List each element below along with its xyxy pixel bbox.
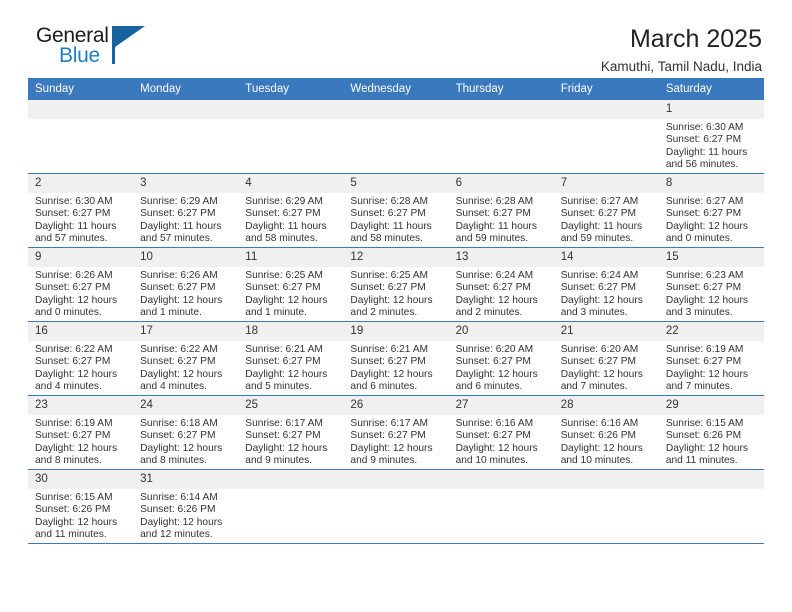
daylight-duration-line2: and 1 minute. <box>245 307 337 319</box>
day-number: 28 <box>554 396 659 415</box>
sunrise-time: Sunrise: 6:26 AM <box>140 270 232 282</box>
day-number: 11 <box>238 248 343 267</box>
sunset-time: Sunset: 6:27 PM <box>561 208 653 220</box>
day-number <box>554 470 659 489</box>
daylight-duration-line1: Daylight: 12 hours <box>666 221 758 233</box>
sunset-time: Sunset: 6:27 PM <box>140 430 232 442</box>
day-number: 9 <box>28 248 133 267</box>
calendar-day-cell[interactable]: 18Sunrise: 6:21 AMSunset: 6:27 PMDayligh… <box>238 322 343 396</box>
day-sun-info: Sunrise: 6:16 AMSunset: 6:26 PMDaylight:… <box>554 415 659 468</box>
daylight-duration-line1: Daylight: 12 hours <box>666 295 758 307</box>
sunrise-time: Sunrise: 6:24 AM <box>561 270 653 282</box>
sunrise-time: Sunrise: 6:27 AM <box>561 196 653 208</box>
weekday-header-sunday: Sunday <box>28 78 133 100</box>
page-header: General Blue March 2025 Kamuthi, Tamil N… <box>28 0 764 72</box>
daylight-duration-line1: Daylight: 12 hours <box>456 369 548 381</box>
day-number: 7 <box>554 174 659 193</box>
sunset-time: Sunset: 6:26 PM <box>35 504 127 516</box>
daylight-duration-line1: Daylight: 12 hours <box>350 369 442 381</box>
daylight-duration-line1: Daylight: 12 hours <box>140 369 232 381</box>
calendar-day-cell-empty <box>133 100 238 174</box>
calendar-day-cell-empty <box>449 470 554 544</box>
calendar-day-cell[interactable]: 26Sunrise: 6:17 AMSunset: 6:27 PMDayligh… <box>343 396 448 470</box>
daylight-duration-line2: and 4 minutes. <box>140 381 232 393</box>
calendar-day-cell-empty <box>238 470 343 544</box>
calendar-day-cell[interactable]: 15Sunrise: 6:23 AMSunset: 6:27 PMDayligh… <box>659 248 764 322</box>
day-number: 26 <box>343 396 448 415</box>
day-sun-info: Sunrise: 6:27 AMSunset: 6:27 PMDaylight:… <box>554 193 659 246</box>
calendar-day-cell[interactable]: 30Sunrise: 6:15 AMSunset: 6:26 PMDayligh… <box>28 470 133 544</box>
day-number <box>238 470 343 489</box>
day-number: 15 <box>659 248 764 267</box>
sunrise-time: Sunrise: 6:22 AM <box>35 344 127 356</box>
sunset-time: Sunset: 6:27 PM <box>245 282 337 294</box>
daylight-duration-line1: Daylight: 12 hours <box>140 443 232 455</box>
day-number: 21 <box>554 322 659 341</box>
daylight-duration-line2: and 5 minutes. <box>245 381 337 393</box>
page-title: March 2025 <box>601 24 762 54</box>
calendar-week-row: 16Sunrise: 6:22 AMSunset: 6:27 PMDayligh… <box>28 322 764 396</box>
sunrise-time: Sunrise: 6:15 AM <box>666 418 758 430</box>
logo-word-blue: Blue <box>59 44 100 68</box>
daylight-duration-line1: Daylight: 11 hours <box>350 221 442 233</box>
day-number: 10 <box>133 248 238 267</box>
daylight-duration-line2: and 0 minutes. <box>666 233 758 245</box>
calendar-body: 1Sunrise: 6:30 AMSunset: 6:27 PMDaylight… <box>28 100 764 544</box>
sunset-time: Sunset: 6:27 PM <box>35 430 127 442</box>
calendar-day-cell[interactable]: 29Sunrise: 6:15 AMSunset: 6:26 PMDayligh… <box>659 396 764 470</box>
calendar-day-cell[interactable]: 8Sunrise: 6:27 AMSunset: 6:27 PMDaylight… <box>659 174 764 248</box>
daylight-duration-line1: Daylight: 11 hours <box>35 221 127 233</box>
daylight-duration-line1: Daylight: 12 hours <box>245 295 337 307</box>
weekday-header-saturday: Saturday <box>659 78 764 100</box>
sunset-time: Sunset: 6:27 PM <box>456 356 548 368</box>
day-number: 19 <box>343 322 448 341</box>
day-number <box>449 470 554 489</box>
sunrise-time: Sunrise: 6:16 AM <box>561 418 653 430</box>
calendar-day-cell[interactable]: 12Sunrise: 6:25 AMSunset: 6:27 PMDayligh… <box>343 248 448 322</box>
day-number <box>238 100 343 119</box>
sunset-time: Sunset: 6:27 PM <box>245 430 337 442</box>
day-number: 14 <box>554 248 659 267</box>
sunrise-time: Sunrise: 6:21 AM <box>350 344 442 356</box>
sunset-time: Sunset: 6:27 PM <box>35 282 127 294</box>
day-sun-info: Sunrise: 6:15 AMSunset: 6:26 PMDaylight:… <box>28 489 133 542</box>
calendar-day-cell[interactable]: 27Sunrise: 6:16 AMSunset: 6:27 PMDayligh… <box>449 396 554 470</box>
sunrise-time: Sunrise: 6:22 AM <box>140 344 232 356</box>
weekday-header-wednesday: Wednesday <box>343 78 448 100</box>
general-blue-logo[interactable]: General Blue <box>28 24 178 72</box>
sunset-time: Sunset: 6:27 PM <box>666 282 758 294</box>
calendar-day-cell[interactable]: 17Sunrise: 6:22 AMSunset: 6:27 PMDayligh… <box>133 322 238 396</box>
calendar-day-cell[interactable]: 22Sunrise: 6:19 AMSunset: 6:27 PMDayligh… <box>659 322 764 396</box>
sunrise-time: Sunrise: 6:25 AM <box>350 270 442 282</box>
sunset-time: Sunset: 6:27 PM <box>350 356 442 368</box>
calendar-week-row: 2Sunrise: 6:30 AMSunset: 6:27 PMDaylight… <box>28 174 764 248</box>
day-sun-info: Sunrise: 6:27 AMSunset: 6:27 PMDaylight:… <box>659 193 764 246</box>
daylight-duration-line2: and 10 minutes. <box>561 455 653 467</box>
daylight-duration-line2: and 59 minutes. <box>561 233 653 245</box>
calendar-day-cell[interactable]: 5Sunrise: 6:28 AMSunset: 6:27 PMDaylight… <box>343 174 448 248</box>
sunset-time: Sunset: 6:27 PM <box>140 356 232 368</box>
day-sun-info: Sunrise: 6:23 AMSunset: 6:27 PMDaylight:… <box>659 267 764 320</box>
sunrise-time: Sunrise: 6:19 AM <box>666 344 758 356</box>
sunrise-time: Sunrise: 6:21 AM <box>245 344 337 356</box>
day-sun-info: Sunrise: 6:26 AMSunset: 6:27 PMDaylight:… <box>28 267 133 320</box>
sunset-time: Sunset: 6:26 PM <box>140 504 232 516</box>
logo-flag-icon <box>115 26 145 47</box>
sunset-time: Sunset: 6:27 PM <box>561 282 653 294</box>
calendar-page: General Blue March 2025 Kamuthi, Tamil N… <box>0 0 792 612</box>
calendar-day-cell[interactable]: 16Sunrise: 6:22 AMSunset: 6:27 PMDayligh… <box>28 322 133 396</box>
calendar-day-cell[interactable]: 3Sunrise: 6:29 AMSunset: 6:27 PMDaylight… <box>133 174 238 248</box>
day-number: 12 <box>343 248 448 267</box>
daylight-duration-line2: and 4 minutes. <box>35 381 127 393</box>
day-sun-info: Sunrise: 6:22 AMSunset: 6:27 PMDaylight:… <box>133 341 238 394</box>
sunset-time: Sunset: 6:27 PM <box>140 282 232 294</box>
page-subtitle: Kamuthi, Tamil Nadu, India <box>601 56 762 78</box>
weekday-header-row: Sunday Monday Tuesday Wednesday Thursday… <box>28 78 764 100</box>
daylight-duration-line2: and 2 minutes. <box>350 307 442 319</box>
day-sun-info: Sunrise: 6:15 AMSunset: 6:26 PMDaylight:… <box>659 415 764 468</box>
daylight-duration-line2: and 0 minutes. <box>35 307 127 319</box>
calendar-day-cell[interactable]: 11Sunrise: 6:25 AMSunset: 6:27 PMDayligh… <box>238 248 343 322</box>
daylight-duration-line1: Daylight: 12 hours <box>666 369 758 381</box>
day-number <box>554 100 659 119</box>
day-sun-info: Sunrise: 6:20 AMSunset: 6:27 PMDaylight:… <box>449 341 554 394</box>
daylight-duration-line2: and 1 minute. <box>140 307 232 319</box>
calendar-day-cell[interactable]: 6Sunrise: 6:28 AMSunset: 6:27 PMDaylight… <box>449 174 554 248</box>
day-sun-info: Sunrise: 6:18 AMSunset: 6:27 PMDaylight:… <box>133 415 238 468</box>
sunrise-time: Sunrise: 6:26 AM <box>35 270 127 282</box>
day-number: 29 <box>659 396 764 415</box>
daylight-duration-line2: and 58 minutes. <box>350 233 442 245</box>
day-sun-info: Sunrise: 6:22 AMSunset: 6:27 PMDaylight:… <box>28 341 133 394</box>
calendar-day-cell[interactable]: 10Sunrise: 6:26 AMSunset: 6:27 PMDayligh… <box>133 248 238 322</box>
daylight-duration-line2: and 9 minutes. <box>350 455 442 467</box>
day-number: 13 <box>449 248 554 267</box>
sunrise-time: Sunrise: 6:17 AM <box>245 418 337 430</box>
daylight-duration-line1: Daylight: 12 hours <box>561 295 653 307</box>
daylight-duration-line1: Daylight: 11 hours <box>245 221 337 233</box>
calendar-week-row: 9Sunrise: 6:26 AMSunset: 6:27 PMDaylight… <box>28 248 764 322</box>
daylight-duration-line2: and 11 minutes. <box>666 455 758 467</box>
daylight-duration-line2: and 6 minutes. <box>350 381 442 393</box>
day-sun-info: Sunrise: 6:29 AMSunset: 6:27 PMDaylight:… <box>133 193 238 246</box>
daylight-duration-line1: Daylight: 11 hours <box>561 221 653 233</box>
calendar-grid: Sunday Monday Tuesday Wednesday Thursday… <box>28 78 764 544</box>
day-number: 20 <box>449 322 554 341</box>
sunrise-time: Sunrise: 6:20 AM <box>456 344 548 356</box>
sunrise-time: Sunrise: 6:29 AM <box>140 196 232 208</box>
daylight-duration-line1: Daylight: 12 hours <box>245 443 337 455</box>
weekday-header-monday: Monday <box>133 78 238 100</box>
weekday-header-tuesday: Tuesday <box>238 78 343 100</box>
day-number <box>343 100 448 119</box>
daylight-duration-line1: Daylight: 12 hours <box>350 295 442 307</box>
day-number: 17 <box>133 322 238 341</box>
daylight-duration-line2: and 58 minutes. <box>245 233 337 245</box>
daylight-duration-line1: Daylight: 12 hours <box>456 295 548 307</box>
calendar-day-cell[interactable]: 4Sunrise: 6:29 AMSunset: 6:27 PMDaylight… <box>238 174 343 248</box>
day-number: 2 <box>28 174 133 193</box>
day-sun-info: Sunrise: 6:21 AMSunset: 6:27 PMDaylight:… <box>238 341 343 394</box>
daylight-duration-line1: Daylight: 12 hours <box>35 295 127 307</box>
day-number: 30 <box>28 470 133 489</box>
day-number: 24 <box>133 396 238 415</box>
daylight-duration-line1: Daylight: 12 hours <box>666 443 758 455</box>
sunset-time: Sunset: 6:27 PM <box>35 208 127 220</box>
calendar-day-cell[interactable]: 9Sunrise: 6:26 AMSunset: 6:27 PMDaylight… <box>28 248 133 322</box>
daylight-duration-line2: and 10 minutes. <box>456 455 548 467</box>
sunset-time: Sunset: 6:27 PM <box>35 356 127 368</box>
sunrise-time: Sunrise: 6:30 AM <box>35 196 127 208</box>
sunset-time: Sunset: 6:26 PM <box>561 430 653 442</box>
daylight-duration-line1: Daylight: 12 hours <box>245 369 337 381</box>
sunrise-time: Sunrise: 6:20 AM <box>561 344 653 356</box>
weekday-header-thursday: Thursday <box>449 78 554 100</box>
calendar-day-cell[interactable]: 28Sunrise: 6:16 AMSunset: 6:26 PMDayligh… <box>554 396 659 470</box>
sunrise-time: Sunrise: 6:25 AM <box>245 270 337 282</box>
daylight-duration-line1: Daylight: 11 hours <box>140 221 232 233</box>
day-sun-info: Sunrise: 6:30 AMSunset: 6:27 PMDaylight:… <box>28 193 133 246</box>
calendar-day-cell-empty <box>554 470 659 544</box>
daylight-duration-line2: and 59 minutes. <box>456 233 548 245</box>
calendar-day-cell[interactable]: 21Sunrise: 6:20 AMSunset: 6:27 PMDayligh… <box>554 322 659 396</box>
sunset-time: Sunset: 6:27 PM <box>350 282 442 294</box>
daylight-duration-line1: Daylight: 12 hours <box>561 369 653 381</box>
daylight-duration-line2: and 6 minutes. <box>456 381 548 393</box>
sunrise-time: Sunrise: 6:17 AM <box>350 418 442 430</box>
sunset-time: Sunset: 6:27 PM <box>561 356 653 368</box>
daylight-duration-line2: and 56 minutes. <box>666 159 758 171</box>
sunrise-time: Sunrise: 6:16 AM <box>456 418 548 430</box>
day-sun-info: Sunrise: 6:17 AMSunset: 6:27 PMDaylight:… <box>238 415 343 468</box>
calendar-day-cell[interactable]: 13Sunrise: 6:24 AMSunset: 6:27 PMDayligh… <box>449 248 554 322</box>
day-sun-info: Sunrise: 6:21 AMSunset: 6:27 PMDaylight:… <box>343 341 448 394</box>
daylight-duration-line1: Daylight: 11 hours <box>456 221 548 233</box>
calendar-day-cell[interactable]: 31Sunrise: 6:14 AMSunset: 6:26 PMDayligh… <box>133 470 238 544</box>
day-sun-info: Sunrise: 6:20 AMSunset: 6:27 PMDaylight:… <box>554 341 659 394</box>
day-number: 1 <box>659 100 764 119</box>
sunrise-time: Sunrise: 6:19 AM <box>35 418 127 430</box>
calendar-day-cell[interactable]: 24Sunrise: 6:18 AMSunset: 6:27 PMDayligh… <box>133 396 238 470</box>
calendar-week-row: 1Sunrise: 6:30 AMSunset: 6:27 PMDaylight… <box>28 100 764 174</box>
sunrise-time: Sunrise: 6:14 AM <box>140 492 232 504</box>
daylight-duration-line2: and 57 minutes. <box>140 233 232 245</box>
day-sun-info: Sunrise: 6:30 AMSunset: 6:27 PMDaylight:… <box>659 119 764 172</box>
day-number: 22 <box>659 322 764 341</box>
calendar-day-cell[interactable]: 23Sunrise: 6:19 AMSunset: 6:27 PMDayligh… <box>28 396 133 470</box>
daylight-duration-line2: and 2 minutes. <box>456 307 548 319</box>
day-number: 27 <box>449 396 554 415</box>
sunset-time: Sunset: 6:27 PM <box>350 208 442 220</box>
calendar-header-row: Sunday Monday Tuesday Wednesday Thursday… <box>28 78 764 100</box>
daylight-duration-line1: Daylight: 11 hours <box>666 147 758 159</box>
calendar-day-cell-empty <box>28 100 133 174</box>
sunset-time: Sunset: 6:27 PM <box>350 430 442 442</box>
daylight-duration-line2: and 8 minutes. <box>140 455 232 467</box>
sunrise-time: Sunrise: 6:28 AM <box>350 196 442 208</box>
calendar-day-cell[interactable]: 25Sunrise: 6:17 AMSunset: 6:27 PMDayligh… <box>238 396 343 470</box>
day-sun-info: Sunrise: 6:25 AMSunset: 6:27 PMDaylight:… <box>238 267 343 320</box>
daylight-duration-line2: and 3 minutes. <box>666 307 758 319</box>
day-sun-info: Sunrise: 6:25 AMSunset: 6:27 PMDaylight:… <box>343 267 448 320</box>
sunrise-time: Sunrise: 6:23 AM <box>666 270 758 282</box>
daylight-duration-line1: Daylight: 12 hours <box>140 295 232 307</box>
daylight-duration-line1: Daylight: 12 hours <box>456 443 548 455</box>
daylight-duration-line1: Daylight: 12 hours <box>35 443 127 455</box>
calendar-day-cell-empty <box>343 470 448 544</box>
day-number: 3 <box>133 174 238 193</box>
calendar-week-row: 23Sunrise: 6:19 AMSunset: 6:27 PMDayligh… <box>28 396 764 470</box>
calendar-day-cell[interactable]: 1Sunrise: 6:30 AMSunset: 6:27 PMDaylight… <box>659 100 764 174</box>
daylight-duration-line2: and 7 minutes. <box>561 381 653 393</box>
calendar-day-cell[interactable]: 2Sunrise: 6:30 AMSunset: 6:27 PMDaylight… <box>28 174 133 248</box>
day-number <box>343 470 448 489</box>
sunrise-time: Sunrise: 6:30 AM <box>666 122 758 134</box>
day-number: 8 <box>659 174 764 193</box>
title-block: March 2025 Kamuthi, Tamil Nadu, India <box>601 24 764 78</box>
daylight-duration-line2: and 11 minutes. <box>35 529 127 541</box>
day-sun-info: Sunrise: 6:19 AMSunset: 6:27 PMDaylight:… <box>659 341 764 394</box>
sunset-time: Sunset: 6:27 PM <box>456 208 548 220</box>
day-sun-info: Sunrise: 6:14 AMSunset: 6:26 PMDaylight:… <box>133 489 238 542</box>
day-sun-info: Sunrise: 6:19 AMSunset: 6:27 PMDaylight:… <box>28 415 133 468</box>
day-number <box>659 470 764 489</box>
day-sun-info: Sunrise: 6:29 AMSunset: 6:27 PMDaylight:… <box>238 193 343 246</box>
daylight-duration-line2: and 12 minutes. <box>140 529 232 541</box>
day-sun-info: Sunrise: 6:24 AMSunset: 6:27 PMDaylight:… <box>449 267 554 320</box>
sunset-time: Sunset: 6:27 PM <box>666 134 758 146</box>
daylight-duration-line2: and 57 minutes. <box>35 233 127 245</box>
day-number <box>28 100 133 119</box>
sunset-time: Sunset: 6:27 PM <box>456 282 548 294</box>
calendar-day-cell-empty <box>343 100 448 174</box>
day-number: 4 <box>238 174 343 193</box>
sunrise-time: Sunrise: 6:15 AM <box>35 492 127 504</box>
calendar-day-cell[interactable]: 14Sunrise: 6:24 AMSunset: 6:27 PMDayligh… <box>554 248 659 322</box>
day-number <box>449 100 554 119</box>
sunset-time: Sunset: 6:27 PM <box>245 356 337 368</box>
daylight-duration-line2: and 7 minutes. <box>666 381 758 393</box>
daylight-duration-line1: Daylight: 12 hours <box>561 443 653 455</box>
daylight-duration-line2: and 9 minutes. <box>245 455 337 467</box>
day-sun-info: Sunrise: 6:28 AMSunset: 6:27 PMDaylight:… <box>449 193 554 246</box>
calendar-day-cell-empty <box>659 470 764 544</box>
weekday-header-friday: Friday <box>554 78 659 100</box>
calendar-day-cell[interactable]: 19Sunrise: 6:21 AMSunset: 6:27 PMDayligh… <box>343 322 448 396</box>
day-number: 31 <box>133 470 238 489</box>
sunset-time: Sunset: 6:27 PM <box>666 208 758 220</box>
day-number: 23 <box>28 396 133 415</box>
sunrise-time: Sunrise: 6:18 AM <box>140 418 232 430</box>
day-sun-info: Sunrise: 6:16 AMSunset: 6:27 PMDaylight:… <box>449 415 554 468</box>
sunrise-time: Sunrise: 6:28 AM <box>456 196 548 208</box>
sunset-time: Sunset: 6:27 PM <box>456 430 548 442</box>
daylight-duration-line1: Daylight: 12 hours <box>35 369 127 381</box>
sunrise-time: Sunrise: 6:29 AM <box>245 196 337 208</box>
daylight-duration-line2: and 8 minutes. <box>35 455 127 467</box>
calendar-day-cell[interactable]: 20Sunrise: 6:20 AMSunset: 6:27 PMDayligh… <box>449 322 554 396</box>
calendar-week-row: 30Sunrise: 6:15 AMSunset: 6:26 PMDayligh… <box>28 470 764 544</box>
day-sun-info: Sunrise: 6:24 AMSunset: 6:27 PMDaylight:… <box>554 267 659 320</box>
sunset-time: Sunset: 6:27 PM <box>140 208 232 220</box>
day-number: 5 <box>343 174 448 193</box>
day-number: 6 <box>449 174 554 193</box>
calendar-day-cell[interactable]: 7Sunrise: 6:27 AMSunset: 6:27 PMDaylight… <box>554 174 659 248</box>
sunset-time: Sunset: 6:27 PM <box>666 356 758 368</box>
day-sun-info: Sunrise: 6:26 AMSunset: 6:27 PMDaylight:… <box>133 267 238 320</box>
daylight-duration-line1: Daylight: 12 hours <box>140 517 232 529</box>
sunrise-time: Sunrise: 6:27 AM <box>666 196 758 208</box>
sunset-time: Sunset: 6:26 PM <box>666 430 758 442</box>
day-sun-info: Sunrise: 6:28 AMSunset: 6:27 PMDaylight:… <box>343 193 448 246</box>
daylight-duration-line1: Daylight: 12 hours <box>350 443 442 455</box>
daylight-duration-line1: Daylight: 12 hours <box>35 517 127 529</box>
calendar-day-cell-empty <box>449 100 554 174</box>
daylight-duration-line2: and 3 minutes. <box>561 307 653 319</box>
day-number <box>133 100 238 119</box>
day-sun-info: Sunrise: 6:17 AMSunset: 6:27 PMDaylight:… <box>343 415 448 468</box>
sunset-time: Sunset: 6:27 PM <box>245 208 337 220</box>
calendar-day-cell-empty <box>238 100 343 174</box>
calendar-day-cell-empty <box>554 100 659 174</box>
day-number: 18 <box>238 322 343 341</box>
day-number: 25 <box>238 396 343 415</box>
day-number: 16 <box>28 322 133 341</box>
sunrise-time: Sunrise: 6:24 AM <box>456 270 548 282</box>
